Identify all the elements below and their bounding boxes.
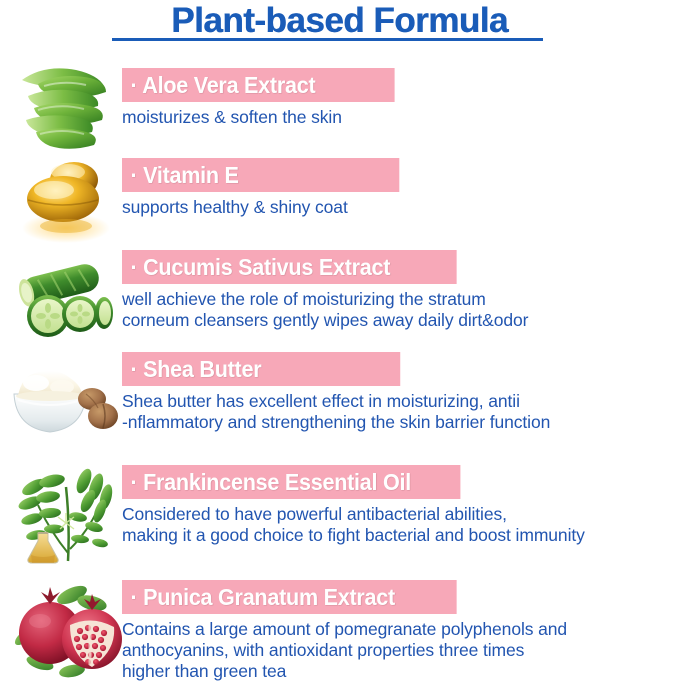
- ingredient-badge-punica-granatum: · Punica Granatum Extract: [122, 580, 457, 614]
- ingredient-row-aloe-vera: · Aloe Vera Extract moisturizes & soften…: [0, 58, 679, 156]
- ingredient-badge-vitamin-e: · Vitamin E: [122, 158, 399, 192]
- ingredient-row-punica-granatum: · Punica Granatum Extract Contains a lar…: [0, 572, 679, 690]
- ingredient-row-frankincense: · Frankincense Essential Oil Considered …: [0, 460, 679, 570]
- ingredient-badge-cucumis-sativus: · Cucumis Sativus Extract: [122, 250, 457, 284]
- vitamin-e-capsule-icon: [16, 154, 116, 244]
- ingredient-badge-aloe-vera: · Aloe Vera Extract: [122, 68, 395, 102]
- shea-butter-bowl-icon: [6, 356, 124, 442]
- ingredient-row-shea-butter: · Shea Butter Shea butter has excellent …: [0, 348, 679, 458]
- aloe-vera-icon: [14, 62, 114, 154]
- frankincense-plant-icon: [16, 465, 120, 565]
- page-title: Plant-based Formula: [171, 0, 508, 40]
- page-header: Plant-based Formula: [0, 0, 679, 40]
- ingredient-description-cucumis-sativus: well achieve the role of moisturizing th…: [122, 289, 528, 331]
- punica-granatum-content: · Punica Granatum Extract Contains a lar…: [122, 580, 567, 682]
- aloe-vera-content: · Aloe Vera Extract moisturizes & soften…: [122, 68, 412, 128]
- pomegranate-icon: [10, 577, 126, 679]
- infographic-page: Plant-based Formula: [0, 0, 679, 694]
- ingredient-row-vitamin-e: · Vitamin E supports healthy & shiny coa…: [0, 150, 679, 245]
- shea-butter-content: · Shea Butter Shea butter has excellent …: [122, 352, 550, 433]
- ingredient-description-frankincense: Considered to have powerful antibacteria…: [122, 504, 585, 546]
- frankincense-content: · Frankincense Essential Oil Considered …: [122, 465, 585, 546]
- cucumber-icon: [6, 256, 118, 340]
- ingredient-badge-frankincense: · Frankincense Essential Oil: [122, 465, 460, 499]
- ingredient-description-vitamin-e: supports healthy & shiny coat: [122, 197, 417, 218]
- ingredient-row-cucumis-sativus: · Cucumis Sativus Extract well achieve t…: [0, 246, 679, 346]
- title-underline: [112, 38, 543, 41]
- vitamin-e-content: · Vitamin E supports healthy & shiny coa…: [122, 158, 417, 218]
- ingredient-badge-shea-butter: · Shea Butter: [122, 352, 400, 386]
- ingredient-description-shea-butter: Shea butter has excellent effect in mois…: [122, 391, 550, 433]
- ingredient-description-aloe-vera: moisturizes & soften the skin: [122, 107, 412, 128]
- cucumis-sativus-content: · Cucumis Sativus Extract well achieve t…: [122, 250, 528, 331]
- ingredient-description-punica-granatum: Contains a large amount of pomegranate p…: [122, 619, 567, 682]
